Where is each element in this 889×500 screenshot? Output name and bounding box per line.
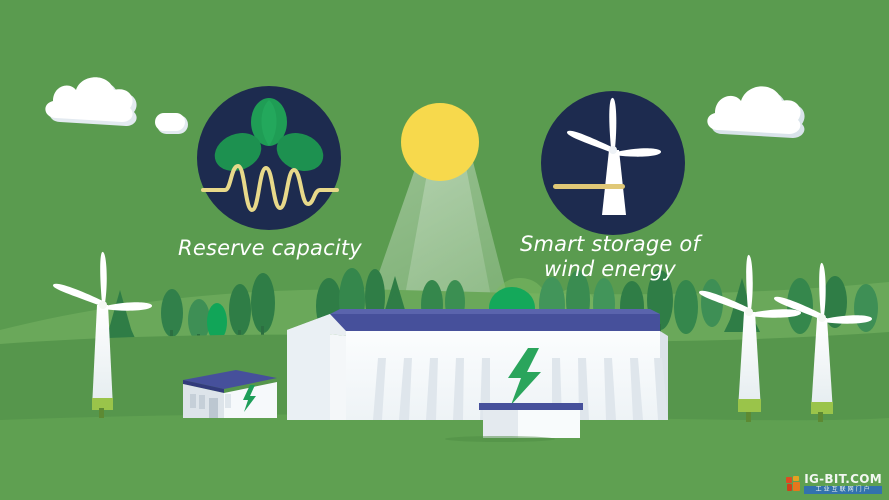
container-shadow bbox=[445, 436, 555, 442]
turbine-base-shadow bbox=[818, 412, 823, 422]
ground-front bbox=[0, 415, 889, 500]
house-door bbox=[209, 398, 218, 418]
gold-bar-icon bbox=[553, 184, 625, 189]
background-layer bbox=[0, 0, 889, 500]
badge-caption-smart-storage: Smart storage of wind energy bbox=[495, 232, 725, 282]
facility-roof bbox=[330, 314, 660, 331]
container-body-left bbox=[483, 410, 518, 438]
turbine-base-shadow bbox=[99, 408, 104, 418]
tree bbox=[674, 280, 698, 334]
ig-bit-logo-icon bbox=[786, 476, 801, 492]
turbine-base bbox=[738, 399, 761, 412]
turbine-base-shadow bbox=[746, 412, 751, 422]
tree bbox=[854, 284, 878, 332]
watermark-subtext: 工业互联网门户 bbox=[804, 486, 882, 494]
energy-storage-facility bbox=[287, 309, 668, 420]
facility-roof-top bbox=[330, 309, 660, 314]
turbine-hub bbox=[818, 314, 826, 322]
badge-reserve-capacity bbox=[197, 86, 341, 230]
house-window bbox=[225, 394, 231, 408]
tree bbox=[701, 279, 723, 327]
icon-hub bbox=[609, 146, 617, 154]
house-window bbox=[199, 395, 205, 409]
container-roof bbox=[479, 403, 583, 410]
sun bbox=[401, 103, 479, 181]
turbine-hub bbox=[99, 301, 107, 309]
illustration-canvas: Reserve capacity Smart storage of wind e… bbox=[0, 0, 889, 500]
container-body-right bbox=[518, 410, 580, 438]
house-window bbox=[190, 394, 196, 408]
badge-smart-storage-wind bbox=[541, 91, 685, 235]
watermark-text: IG-BIT.COM bbox=[804, 473, 882, 485]
ig-bit-watermark: IG-BIT.COM 工业互联网门户 bbox=[783, 471, 885, 496]
turbine-hub bbox=[745, 308, 753, 316]
badge-caption-reserve-capacity: Reserve capacity bbox=[150, 236, 390, 261]
annex-gable bbox=[287, 314, 330, 420]
